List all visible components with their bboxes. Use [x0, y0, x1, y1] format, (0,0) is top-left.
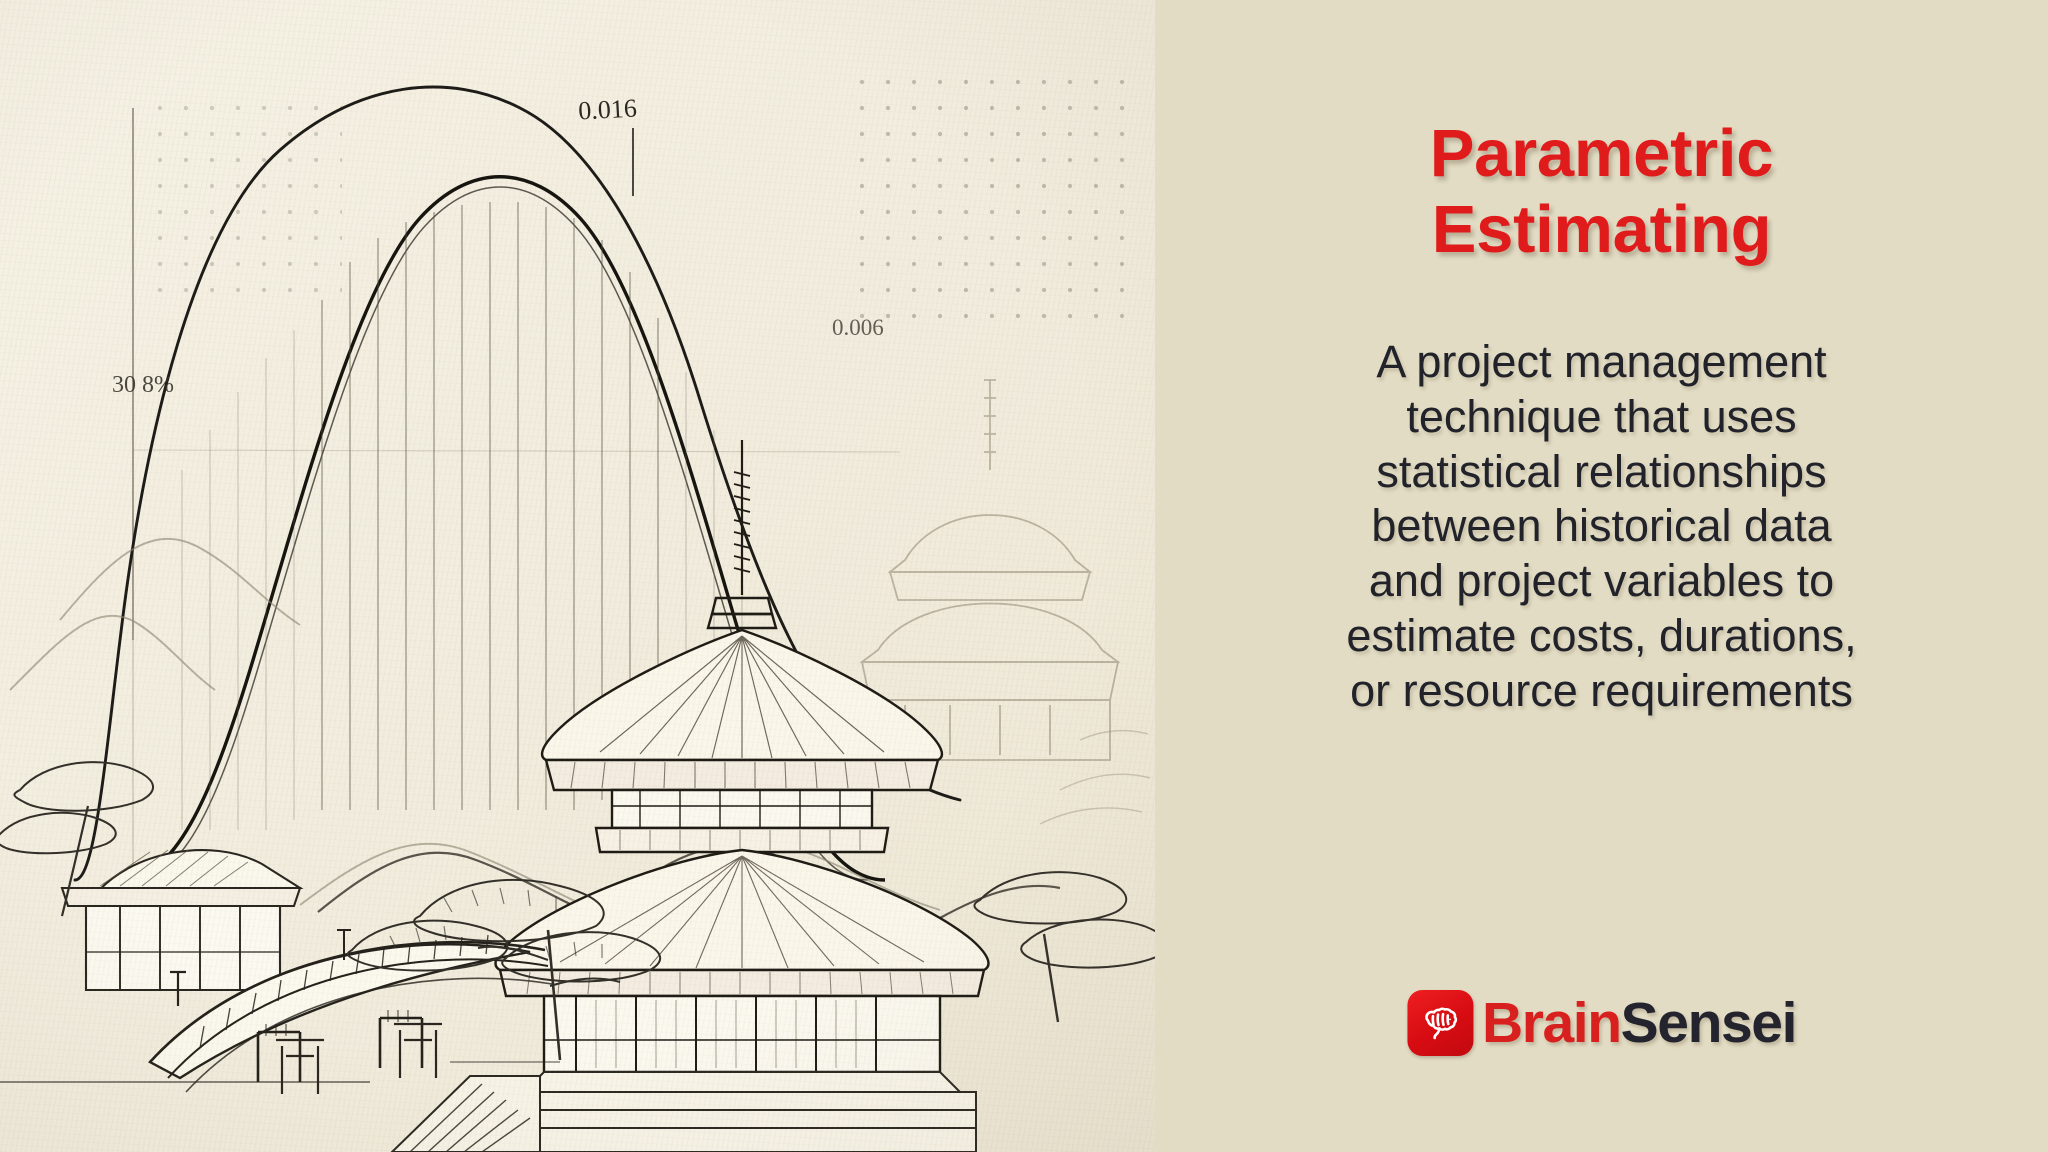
chart-label-right: 0.006 [832, 315, 884, 340]
chart-label-peak: 0.016 [578, 94, 638, 126]
description-line: A project management [1346, 335, 1856, 390]
sketch-illustration: 0.016 0.006 30 8% [0, 0, 1155, 1152]
logo-word-sensei: Sensei [1621, 991, 1796, 1055]
title-line-2: Estimating [1430, 192, 1773, 268]
content-panel: Parametric Estimating A project manageme… [1155, 0, 2048, 1152]
description-line: and project variables to [1346, 554, 1856, 609]
title-line-1: Parametric [1430, 116, 1773, 191]
logo-wordmark: BrainSensei [1482, 995, 1796, 1052]
description-line: technique that uses [1346, 390, 1856, 445]
logo-word-brain: Brain [1482, 991, 1621, 1055]
chart-label-axis: 30 8% [112, 372, 174, 398]
page-title: Parametric Estimating [1430, 116, 1773, 269]
logo-mark [1407, 990, 1473, 1056]
description-text: A project management technique that uses… [1346, 335, 1856, 719]
brain-icon [1417, 1000, 1463, 1046]
description-line: estimate costs, durations, [1346, 609, 1856, 664]
illustration-panel: 0.016 0.006 30 8% [0, 0, 1155, 1152]
dotted-grid-left [152, 88, 342, 298]
slide-root: 0.016 0.006 30 8% [0, 0, 2048, 1152]
description-line: or resource requirements [1346, 664, 1856, 719]
stone-steps [392, 1072, 976, 1152]
description-line: statistical relationships [1346, 445, 1856, 500]
brainsensei-logo[interactable]: BrainSensei [1407, 990, 1796, 1056]
dotted-grid-right [845, 78, 1125, 328]
description-line: between historical data [1346, 499, 1856, 554]
